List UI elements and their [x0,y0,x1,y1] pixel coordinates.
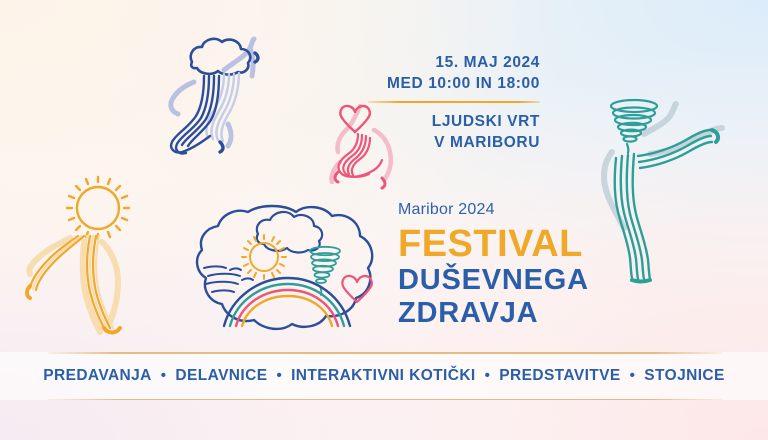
banner-separator: • [161,368,167,383]
title-dusevnega: DUŠEVNEGA [398,264,698,297]
cloud-head-figure [158,26,280,162]
title-festival: FESTIVAL [398,224,698,264]
venue-line-2: V MARIBORU [352,132,540,153]
cloud-icon [257,212,322,252]
sun-icon [242,235,286,279]
banner-item: DELAVNICE [175,367,267,385]
brain-weather-illustration [186,200,386,340]
bottom-banner: PREDAVANJA•DELAVNICE•INTERAKTIVNI KOTIČK… [0,352,768,400]
banner-separator: • [630,368,636,383]
date-venue-block: 15. MAJ 2024 MED 10:00 IN 18:00 LJUDSKI … [352,52,540,153]
date-divider [368,101,540,103]
banner-item: INTERAKTIVNI KOTIČKI [291,367,476,385]
poster-canvas: 15. MAJ 2024 MED 10:00 IN 18:00 LJUDSKI … [0,0,768,440]
banner-separator: • [485,368,491,383]
rainbow-icon [224,278,350,326]
banner-item-list: PREDAVANJA•DELAVNICE•INTERAKTIVNI KOTIČK… [0,352,768,400]
title-zdravja: ZDRAVJA [398,297,698,330]
event-time: MED 10:00 IN 18:00 [352,73,540,94]
venue-line-1: LJUDSKI VRT [352,111,540,132]
tornado-icon [310,247,340,295]
banner-separator: • [276,368,282,383]
wind-lines-icon [204,267,253,293]
sun-head-figure [28,176,164,348]
banner-item: PREDAVANJA [43,367,152,385]
event-date: 15. MAJ 2024 [352,52,540,73]
title-block: Maribor 2024 FESTIVAL DUŠEVNEGA ZDRAVJA [398,200,698,330]
eyebrow-text: Maribor 2024 [398,200,698,220]
banner-item: PREDSTAVITVE [499,367,620,385]
banner-item: STOJNICE [644,367,724,385]
